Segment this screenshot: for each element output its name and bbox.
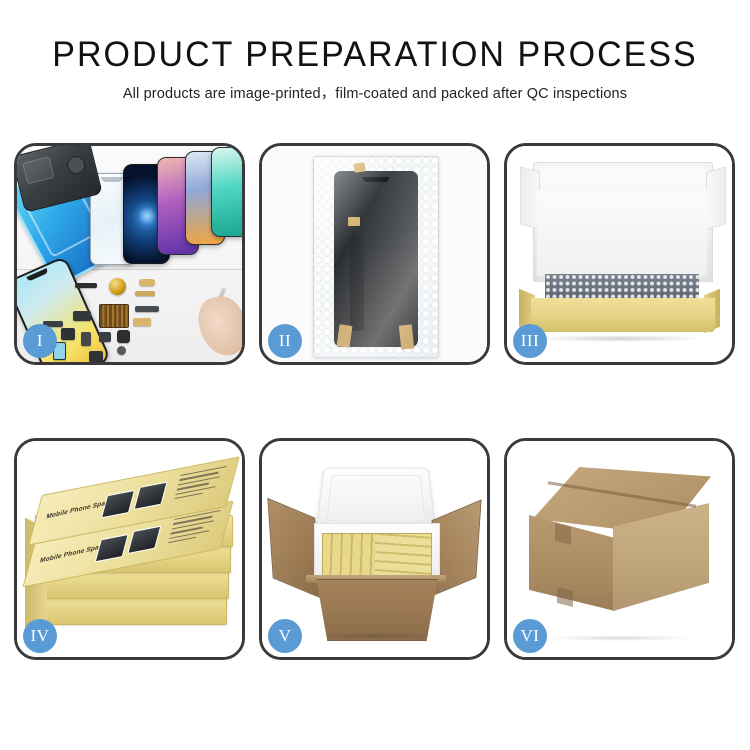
step-badge-3: III bbox=[513, 324, 547, 358]
page-subtitle: All products are image-printed，film-coat… bbox=[0, 82, 750, 103]
spare-part-icon bbox=[135, 291, 155, 296]
tape-tab-icon bbox=[336, 324, 352, 348]
process-panel-2[interactable]: II bbox=[259, 143, 490, 365]
kraft-box-front-icon bbox=[531, 298, 715, 332]
spare-part-icon bbox=[73, 311, 91, 321]
spare-part-icon bbox=[61, 328, 75, 340]
box-label-screen-image bbox=[127, 525, 161, 554]
flex-cable-icon bbox=[350, 235, 364, 331]
spare-part-icon bbox=[139, 279, 155, 286]
process-panel-4[interactable]: Mobile Phone Spare Parts Mobile Phone Sp… bbox=[14, 438, 245, 660]
step-badge-4: IV bbox=[23, 619, 57, 653]
tape-tab-icon bbox=[353, 162, 365, 172]
process-step-grid: I II III bbox=[14, 143, 736, 660]
spare-part-icon bbox=[135, 306, 159, 312]
page-title: PRODUCT PREPARATION PROCESS bbox=[11, 34, 739, 76]
chip-grid-icon bbox=[99, 304, 129, 328]
box-label-spec-lines bbox=[173, 466, 227, 503]
vibration-motor-icon bbox=[109, 278, 126, 295]
process-panel-5[interactable]: V bbox=[259, 438, 490, 660]
step-badge-2: II bbox=[268, 324, 302, 358]
box-stack-icon: Mobile Phone Spare Parts Mobile Phone Sp… bbox=[25, 463, 241, 643]
yellow-boxes-inside-icon bbox=[322, 533, 432, 579]
carton-front-icon bbox=[308, 579, 446, 641]
phone-teal-icon bbox=[211, 147, 242, 237]
spare-part-icon bbox=[99, 332, 111, 342]
spare-part-icon bbox=[89, 351, 103, 362]
carton-tab-icon bbox=[555, 523, 571, 545]
spare-part-icon bbox=[133, 318, 151, 326]
drop-shadow bbox=[312, 633, 437, 639]
foam-lid-icon bbox=[316, 468, 437, 531]
page-header: PRODUCT PREPARATION PROCESS All products… bbox=[0, 0, 750, 103]
spare-part-icon bbox=[117, 346, 126, 355]
process-panel-1[interactable]: I bbox=[14, 143, 245, 365]
spare-part-icon bbox=[117, 330, 130, 343]
drop-shadow bbox=[535, 335, 704, 342]
spare-part-icon bbox=[81, 332, 91, 346]
bubble-wrap-pouch-icon bbox=[313, 156, 439, 358]
box-label-screen-image bbox=[95, 534, 129, 563]
box-label-screen-image bbox=[133, 481, 167, 510]
tape-tab-icon bbox=[348, 217, 360, 226]
tape-tab-icon bbox=[398, 324, 413, 349]
drop-shadow bbox=[547, 635, 692, 641]
process-panel-6[interactable]: VI bbox=[504, 438, 735, 660]
step-badge-5: V bbox=[268, 619, 302, 653]
step-badge-6: VI bbox=[513, 619, 547, 653]
foam-liner-icon bbox=[537, 190, 707, 276]
process-panel-3[interactable]: III bbox=[504, 143, 735, 365]
spare-part-icon bbox=[75, 283, 97, 288]
box-label-screen-image bbox=[101, 490, 135, 519]
step-badge-1: I bbox=[23, 324, 57, 358]
lcd-screen-icon bbox=[334, 171, 418, 347]
